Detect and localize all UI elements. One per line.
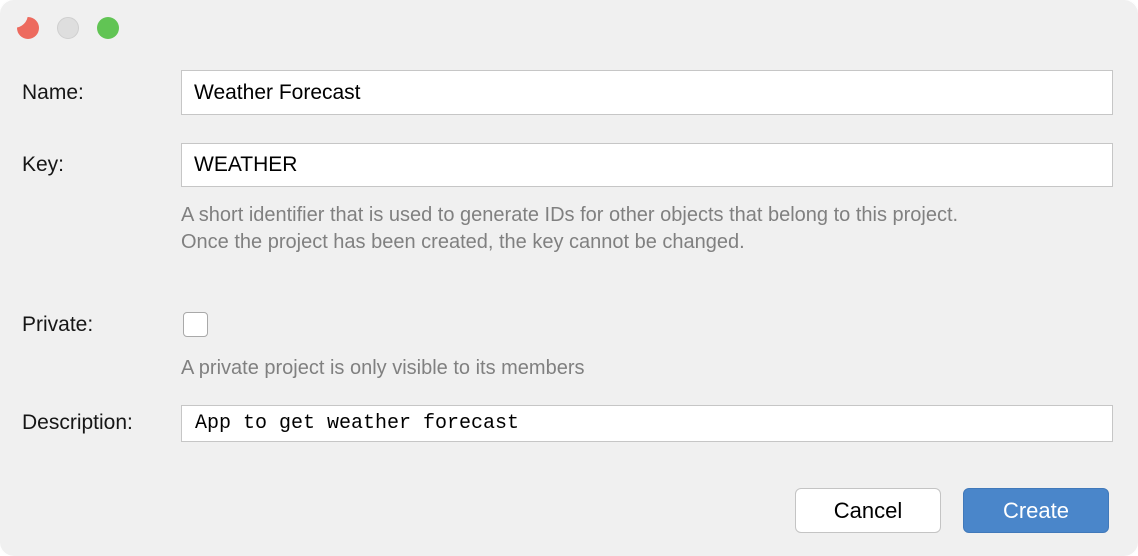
minimize-window-icon[interactable] [57, 17, 79, 39]
create-button[interactable]: Create [963, 488, 1109, 533]
window-corner-bottom-right [1124, 542, 1138, 556]
create-project-dialog: Name: Weather Forecast Key: WEATHER A sh… [0, 0, 1138, 556]
cancel-button[interactable]: Cancel [795, 488, 941, 533]
name-input[interactable]: Weather Forecast [181, 70, 1113, 115]
private-checkbox[interactable] [183, 312, 208, 337]
window-corner-bottom-left [0, 542, 14, 556]
key-label: Key: [22, 153, 64, 177]
description-input[interactable]: App to get weather forecast [181, 405, 1113, 442]
private-help-text: A private project is only visible to its… [181, 355, 1081, 382]
window-titlebar [0, 0, 1138, 56]
key-input[interactable]: WEATHER [181, 143, 1113, 187]
key-help-text: A short identifier that is used to gener… [181, 202, 1081, 256]
close-window-icon[interactable] [17, 17, 39, 39]
zoom-window-icon[interactable] [97, 17, 119, 39]
description-label: Description: [22, 411, 133, 435]
name-label: Name: [22, 81, 84, 105]
private-label: Private: [22, 313, 93, 337]
